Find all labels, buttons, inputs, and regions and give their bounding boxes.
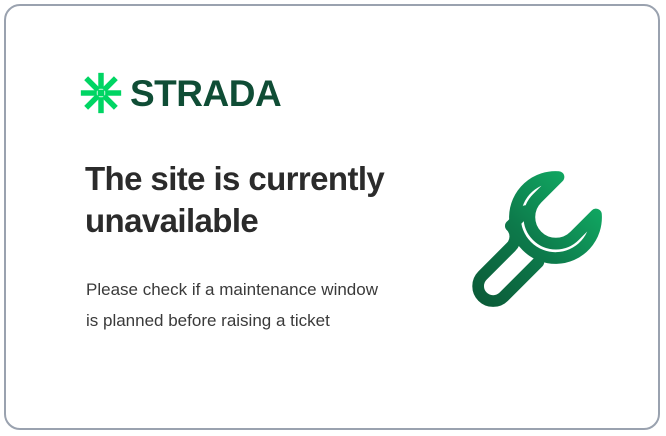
page-description: Please check if a maintenance window is … [86,274,386,337]
wrench-illustration [461,158,617,314]
asterisk-star-icon [80,72,122,114]
brand-wordmark: STRADA [130,75,281,112]
page-title: The site is currently unavailable [85,158,415,241]
status-page-card: STRADA The site is currently unavailable… [4,4,660,430]
brand-logo: STRADA [80,72,281,114]
